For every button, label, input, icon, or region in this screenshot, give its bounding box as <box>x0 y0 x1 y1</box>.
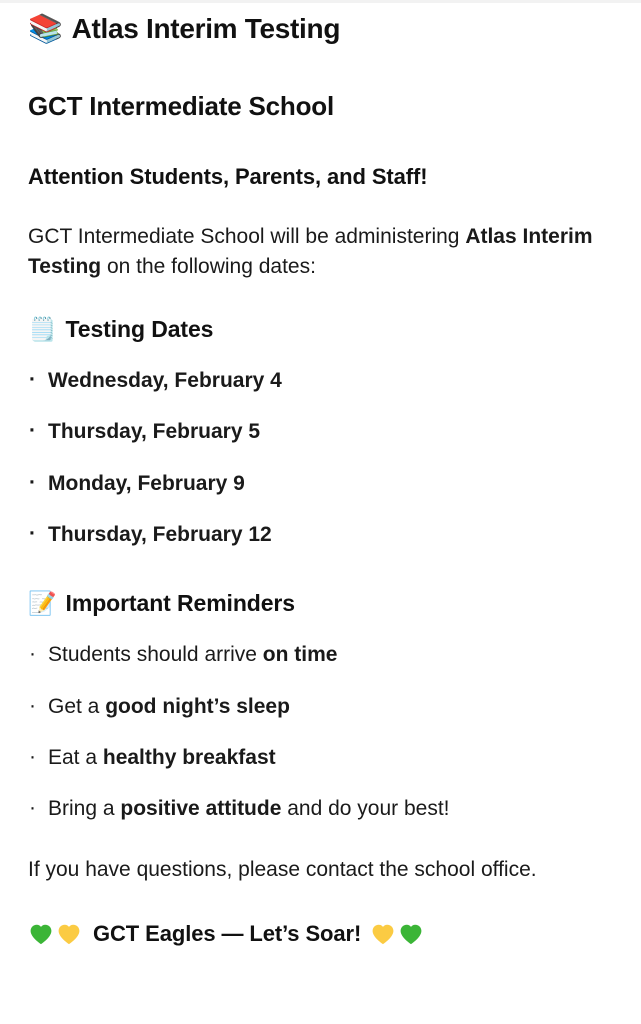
list-item: Wednesday, February 4 <box>28 367 613 394</box>
reminder-text-before: Eat a <box>48 746 103 769</box>
list-item: Thursday, February 5 <box>28 418 613 445</box>
testing-dates-heading: 🗒️ Testing Dates <box>28 316 613 343</box>
testing-dates-heading-text: Testing Dates <box>66 316 214 343</box>
list-item: Monday, February 9 <box>28 470 613 497</box>
intro-paragraph: GCT Intermediate School will be administ… <box>28 222 613 282</box>
page-title-text: Atlas Interim Testing <box>72 12 341 47</box>
important-reminders-heading-text: Important Reminders <box>66 590 295 617</box>
green-heart-icon <box>398 921 424 947</box>
intro-text-before: GCT Intermediate School will be administ… <box>28 225 465 248</box>
list-item: Get a good night’s sleep <box>28 693 613 720</box>
green-heart-icon <box>28 921 54 947</box>
books-emoji: 📚 <box>28 15 63 43</box>
yellow-heart-icon <box>370 921 396 947</box>
signoff-line: GCT Eagles — Let’s Soar! <box>28 921 613 947</box>
list-item: Students should arrive on time <box>28 641 613 668</box>
reminder-text-after: and do your best! <box>281 797 449 820</box>
important-reminders-heading: 📝 Important Reminders <box>28 590 613 617</box>
reminder-text-before: Get a <box>48 695 105 718</box>
list-item: Thursday, February 12 <box>28 521 613 548</box>
closing-paragraph: If you have questions, please contact th… <box>28 855 608 885</box>
intro-text-after: on the following dates: <box>101 255 316 278</box>
list-item: Bring a positive attitude and do your be… <box>28 795 613 822</box>
reminder-text-bold: on time <box>263 643 338 666</box>
list-item: Eat a healthy breakfast <box>28 744 613 771</box>
memo-icon: 📝 <box>28 593 57 616</box>
school-name-heading: GCT Intermediate School <box>28 91 613 122</box>
signoff-text: GCT Eagles — Let’s Soar! <box>93 921 361 947</box>
yellow-heart-icon <box>56 921 82 947</box>
page-title: 📚 Atlas Interim Testing <box>28 12 613 47</box>
reminder-text-bold: healthy breakfast <box>103 746 276 769</box>
attention-line: Attention Students, Parents, and Staff! <box>28 164 613 190</box>
reminder-text-before: Students should arrive <box>48 643 263 666</box>
reminder-text-before: Bring a <box>48 797 120 820</box>
testing-dates-list: Wednesday, February 4 Thursday, February… <box>28 367 613 548</box>
reminder-text-bold: positive attitude <box>120 797 281 820</box>
reminders-list: Students should arrive on time Get a goo… <box>28 641 613 822</box>
announcement-document: 📚 Atlas Interim Testing GCT Intermediate… <box>0 0 641 947</box>
reminder-text-bold: good night’s sleep <box>105 695 290 718</box>
spiral-notepad-icon: 🗒️ <box>28 319 57 342</box>
